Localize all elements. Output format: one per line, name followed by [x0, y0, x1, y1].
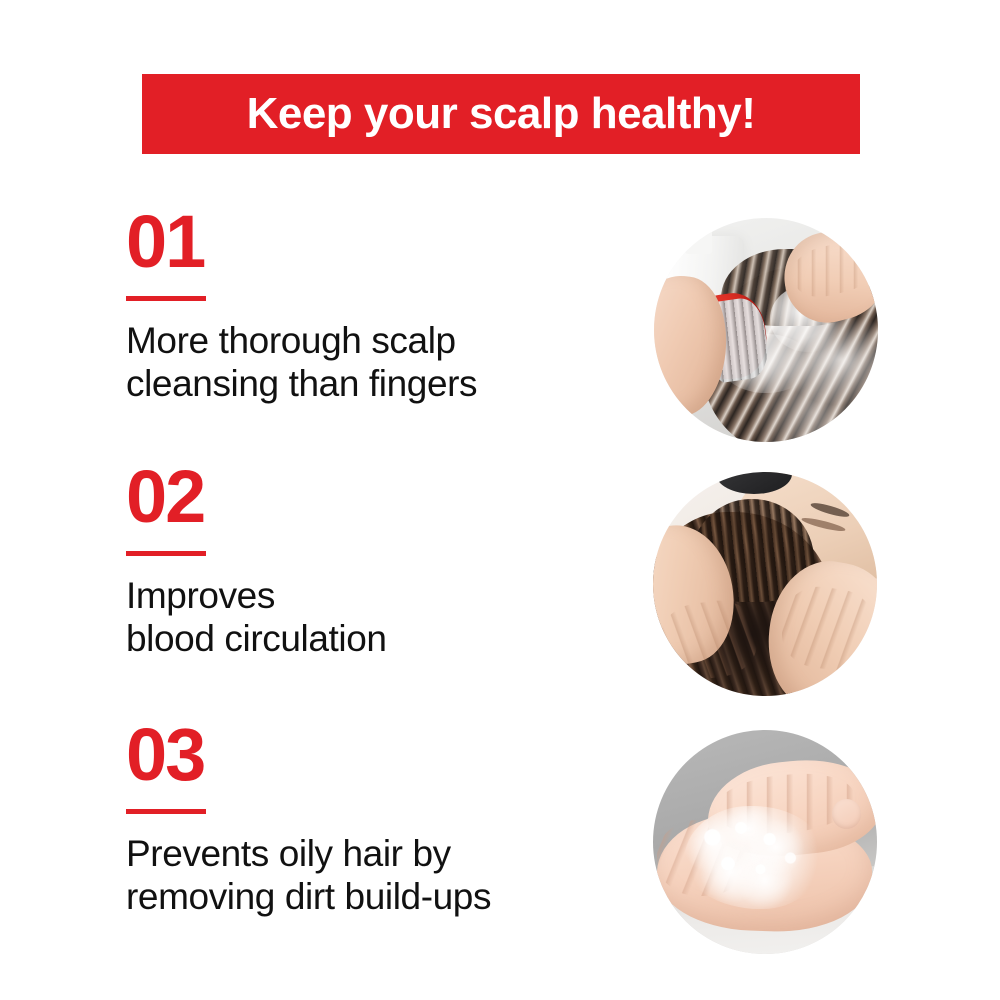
feature-body-line-2: blood circulation: [126, 617, 626, 661]
infographic-canvas: Keep your scalp healthy! 01 More thoroug…: [0, 0, 1000, 1000]
photo-inner-01: [654, 218, 878, 442]
scalp-brush-shampoo-photo: [654, 218, 878, 442]
feature-body-line-1: More thorough scalp: [126, 319, 626, 363]
shampoo-bottle-neck: [685, 222, 712, 253]
feature-item-03: 03 Prevents oily hair by removing dirt b…: [0, 726, 1000, 956]
feature-number-03: 03: [126, 726, 626, 784]
feature-divider-03: [126, 809, 206, 814]
feature-item-02: 02 Improves blood circulation: [0, 468, 1000, 698]
feature-body-01: More thorough scalp cleansing than finge…: [126, 319, 626, 406]
photo-inner-02: [653, 472, 877, 696]
feature-body-line-2: removing dirt build-ups: [126, 875, 626, 919]
feature-number-02: 02: [126, 468, 626, 526]
feature-number-01: 01: [126, 213, 626, 271]
feature-text-block-02: 02 Improves blood circulation: [126, 468, 626, 661]
feature-body-02: Improves blood circulation: [126, 574, 626, 661]
feature-body-line-1: Improves: [126, 574, 626, 618]
scalp-massage-photo: [653, 472, 877, 696]
fingernail: [832, 799, 861, 828]
feature-body-line-1: Prevents oily hair by: [126, 832, 626, 876]
page-title: Keep your scalp healthy!: [247, 92, 756, 136]
header-banner: Keep your scalp healthy!: [142, 74, 860, 154]
photo-inner-03: [653, 730, 877, 954]
feature-text-block-03: 03 Prevents oily hair by removing dirt b…: [126, 726, 626, 919]
feature-text-block-01: 01 More thorough scalp cleansing than fi…: [126, 213, 626, 406]
feature-body-03: Prevents oily hair by removing dirt buil…: [126, 832, 626, 919]
feature-divider-01: [126, 296, 206, 301]
feature-item-01: 01 More thorough scalp cleansing than fi…: [0, 213, 1000, 443]
feature-body-line-2: cleansing than fingers: [126, 362, 626, 406]
feature-divider-02: [126, 551, 206, 556]
soap-foam-hands-photo: [653, 730, 877, 954]
foam-bubbles: [689, 811, 819, 905]
